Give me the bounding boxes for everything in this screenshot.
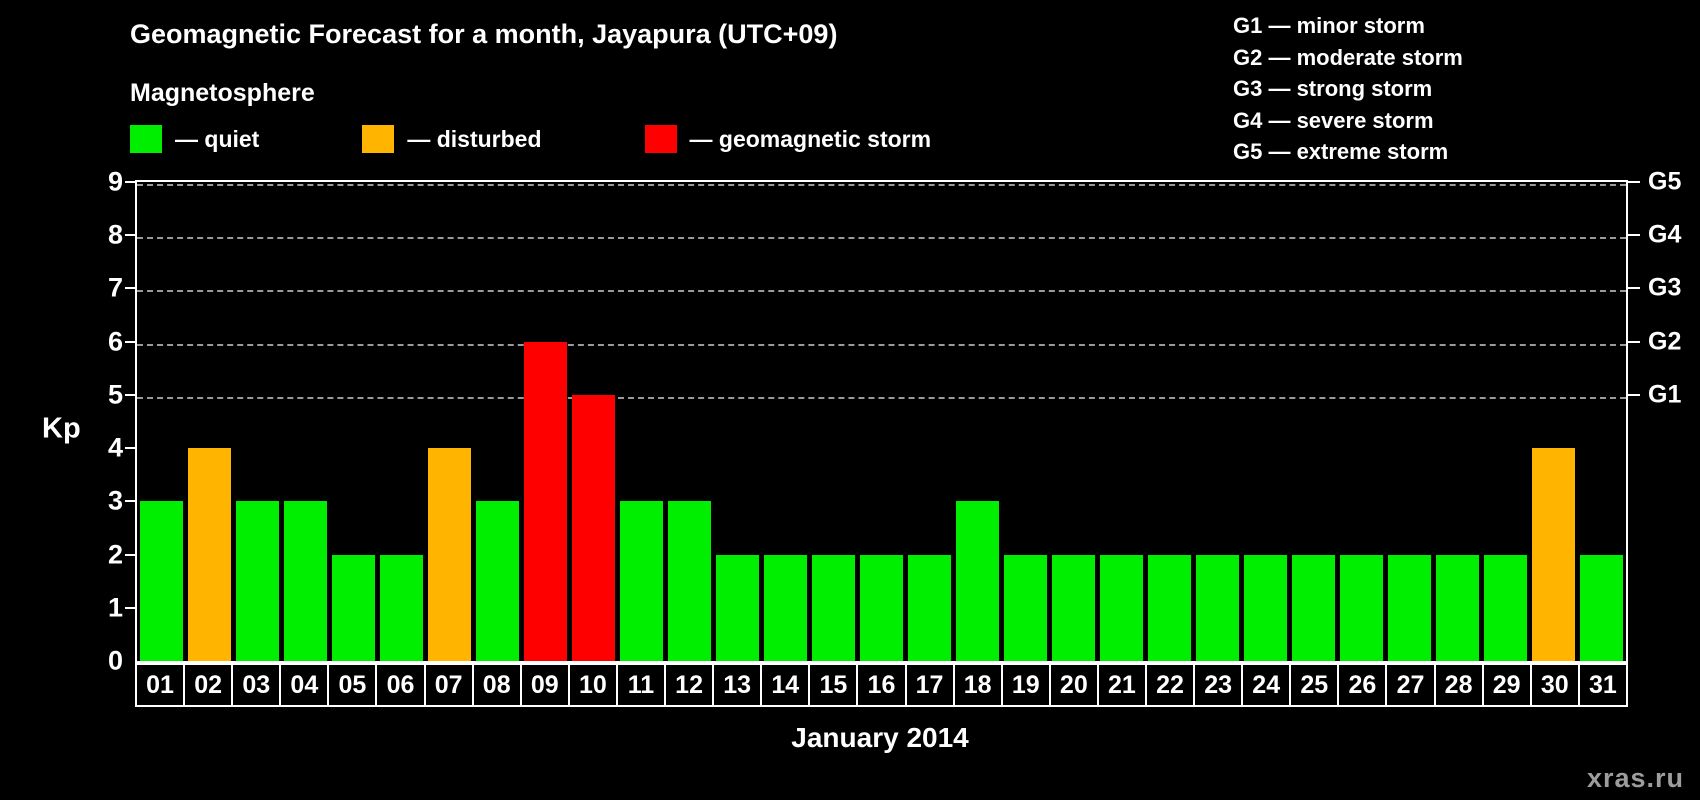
day-label-07[interactable]: 07	[424, 663, 474, 707]
day-label-27[interactable]: 27	[1385, 663, 1435, 707]
y-tick-label-6: 6	[83, 326, 123, 357]
day-label-06[interactable]: 06	[375, 663, 425, 707]
legend-swatch-storm	[645, 125, 677, 153]
bar-day-30[interactable]	[1532, 448, 1575, 661]
day-label-23[interactable]: 23	[1193, 663, 1243, 707]
day-label-19[interactable]: 19	[1001, 663, 1051, 707]
g-scale-line-g1: G1 — minor storm	[1233, 10, 1463, 42]
day-label-14[interactable]: 14	[760, 663, 810, 707]
g-tick-mark-g4	[1628, 234, 1640, 236]
day-label-10[interactable]: 10	[568, 663, 618, 707]
day-label-08[interactable]: 08	[472, 663, 522, 707]
g-scale-line-g3: G3 — strong storm	[1233, 73, 1463, 105]
bar-day-22[interactable]	[1148, 555, 1191, 661]
bar-day-03[interactable]	[236, 501, 279, 661]
g-tick-label-g2: G2	[1648, 327, 1681, 356]
bar-day-13[interactable]	[716, 555, 759, 661]
day-label-01[interactable]: 01	[135, 663, 185, 707]
bar-day-19[interactable]	[1004, 555, 1047, 661]
chart-page: Geomagnetic Forecast for a month, Jayapu…	[0, 0, 1700, 800]
day-label-12[interactable]: 12	[664, 663, 714, 707]
day-label-26[interactable]: 26	[1337, 663, 1387, 707]
g-scale-line-g5: G5 — extreme storm	[1233, 136, 1463, 168]
day-label-29[interactable]: 29	[1482, 663, 1532, 707]
day-label-21[interactable]: 21	[1097, 663, 1147, 707]
g-tick-mark-g1	[1628, 394, 1640, 396]
day-label-16[interactable]: 16	[856, 663, 906, 707]
bar-day-29[interactable]	[1484, 555, 1527, 661]
day-label-30[interactable]: 30	[1530, 663, 1580, 707]
bar-day-18[interactable]	[956, 501, 999, 661]
legend-label-disturbed: — disturbed	[407, 126, 541, 153]
day-label-13[interactable]: 13	[712, 663, 762, 707]
bars-container	[137, 182, 1626, 661]
bar-day-31[interactable]	[1580, 555, 1623, 661]
watermark: xras.ru	[1587, 763, 1684, 794]
bar-day-25[interactable]	[1292, 555, 1335, 661]
bar-day-08[interactable]	[476, 501, 519, 661]
day-label-03[interactable]: 03	[231, 663, 281, 707]
bar-day-24[interactable]	[1244, 555, 1287, 661]
bar-day-10[interactable]	[572, 395, 615, 661]
bar-day-07[interactable]	[428, 448, 471, 661]
day-label-25[interactable]: 25	[1289, 663, 1339, 707]
day-label-02[interactable]: 02	[183, 663, 233, 707]
magnetosphere-legend: — quiet — disturbed — geomagnetic storm	[130, 124, 931, 154]
bar-day-17[interactable]	[908, 555, 951, 661]
day-label-17[interactable]: 17	[905, 663, 955, 707]
g-tick-label-g3: G3	[1648, 274, 1681, 303]
legend-item-disturbed: — disturbed	[362, 125, 541, 153]
y-tick-label-3: 3	[83, 486, 123, 517]
x-axis-title: January 2014	[0, 722, 1700, 754]
bar-day-21[interactable]	[1100, 555, 1143, 661]
y-tick-label-4: 4	[83, 433, 123, 464]
bar-day-09[interactable]	[524, 342, 567, 661]
day-label-15[interactable]: 15	[808, 663, 858, 707]
y-tick-label-2: 2	[83, 539, 123, 570]
y-tick-label-5: 5	[83, 379, 123, 410]
g-scale-line-g2: G2 — moderate storm	[1233, 42, 1463, 74]
page-title: Geomagnetic Forecast for a month, Jayapu…	[130, 19, 837, 50]
bar-day-15[interactable]	[812, 555, 855, 661]
y-axis-title: Kp	[42, 413, 81, 446]
y-tick-label-9: 9	[83, 167, 123, 198]
bar-day-02[interactable]	[188, 448, 231, 661]
day-label-28[interactable]: 28	[1434, 663, 1484, 707]
day-label-11[interactable]: 11	[616, 663, 666, 707]
day-label-24[interactable]: 24	[1241, 663, 1291, 707]
g-tick-mark-g5	[1628, 181, 1640, 183]
g-tick-label-g1: G1	[1648, 380, 1681, 409]
y-tick-label-1: 1	[83, 592, 123, 623]
bar-day-12[interactable]	[668, 501, 711, 661]
y-tick-label-0: 0	[83, 646, 123, 677]
day-label-18[interactable]: 18	[953, 663, 1003, 707]
bar-day-16[interactable]	[860, 555, 903, 661]
g-scale-legend: G1 — minor storm G2 — moderate storm G3 …	[1233, 10, 1463, 168]
bar-day-14[interactable]	[764, 555, 807, 661]
bar-day-23[interactable]	[1196, 555, 1239, 661]
bar-day-04[interactable]	[284, 501, 327, 661]
bar-day-27[interactable]	[1388, 555, 1431, 661]
day-label-04[interactable]: 04	[279, 663, 329, 707]
bar-day-06[interactable]	[380, 555, 423, 661]
y-tick-label-7: 7	[83, 273, 123, 304]
bar-day-05[interactable]	[332, 555, 375, 661]
g-tick-label-g5: G5	[1648, 168, 1681, 197]
day-label-05[interactable]: 05	[327, 663, 377, 707]
legend-swatch-quiet	[130, 125, 162, 153]
bar-day-01[interactable]	[140, 501, 183, 661]
legend-swatch-disturbed	[362, 125, 394, 153]
day-label-31[interactable]: 31	[1578, 663, 1628, 707]
legend-label-storm: — geomagnetic storm	[690, 126, 932, 153]
bar-day-28[interactable]	[1436, 555, 1479, 661]
g-tick-mark-g2	[1628, 341, 1640, 343]
legend-item-storm: — geomagnetic storm	[645, 125, 932, 153]
day-label-20[interactable]: 20	[1049, 663, 1099, 707]
bar-day-11[interactable]	[620, 501, 663, 661]
g-tick-label-g4: G4	[1648, 221, 1681, 250]
day-labels-strip: 0102030405060708091011121314151617181920…	[135, 663, 1628, 707]
g-scale-line-g4: G4 — severe storm	[1233, 105, 1463, 137]
g-tick-mark-g3	[1628, 287, 1640, 289]
legend-heading: Magnetosphere	[130, 79, 315, 108]
bar-day-26[interactable]	[1340, 555, 1383, 661]
day-label-22[interactable]: 22	[1145, 663, 1195, 707]
legend-label-quiet: — quiet	[175, 126, 259, 153]
bar-day-20[interactable]	[1052, 555, 1095, 661]
y-tick-label-8: 8	[83, 220, 123, 251]
legend-item-quiet: — quiet	[130, 125, 259, 153]
day-label-09[interactable]: 09	[520, 663, 570, 707]
